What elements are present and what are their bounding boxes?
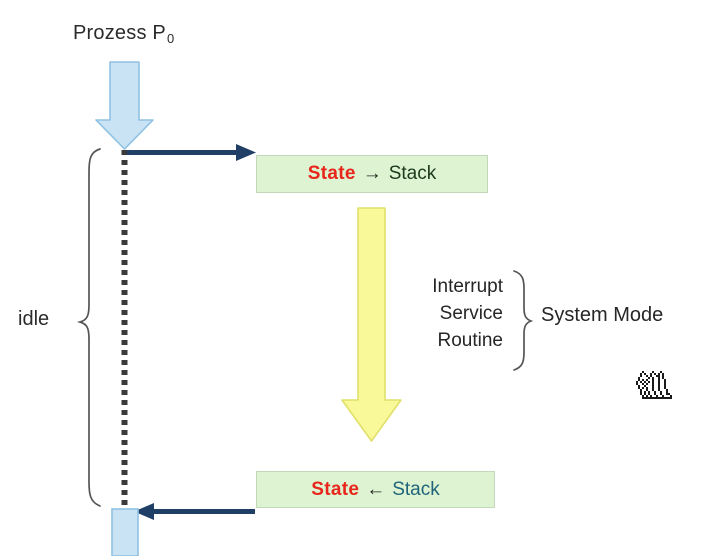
state-keyword: State bbox=[308, 163, 356, 185]
state-restore-box[interactable]: State ← Stack bbox=[256, 471, 495, 508]
isr-line-3: Routine bbox=[395, 327, 503, 354]
state-save-box[interactable]: State → Stack bbox=[256, 155, 488, 193]
navy-right-arrow-icon bbox=[127, 144, 256, 161]
stack-target: Stack bbox=[389, 163, 437, 185]
stack-target: Stack bbox=[392, 479, 440, 501]
arrow-right-glyph: → bbox=[363, 163, 382, 185]
isr-label: Interrupt Service Routine bbox=[395, 273, 503, 354]
left-curly-brace-icon bbox=[80, 149, 100, 506]
cat-cursor-icon bbox=[636, 369, 674, 403]
isr-line-2: Service bbox=[395, 300, 503, 327]
navy-left-arrow-icon bbox=[134, 503, 255, 520]
system-mode-label: System Mode bbox=[541, 304, 663, 327]
diagram-canvas: Prozess P0 bbox=[0, 0, 710, 556]
right-curly-brace-icon bbox=[514, 271, 531, 370]
yellow-down-arrow-icon bbox=[342, 208, 401, 441]
blue-down-arrow-bottom-icon bbox=[112, 509, 138, 556]
isr-line-1: Interrupt bbox=[395, 273, 503, 300]
blue-down-arrow-icon bbox=[96, 62, 153, 149]
state-keyword: State bbox=[311, 479, 359, 501]
idle-label: idle bbox=[18, 308, 49, 331]
arrow-left-glyph: ← bbox=[366, 479, 385, 501]
